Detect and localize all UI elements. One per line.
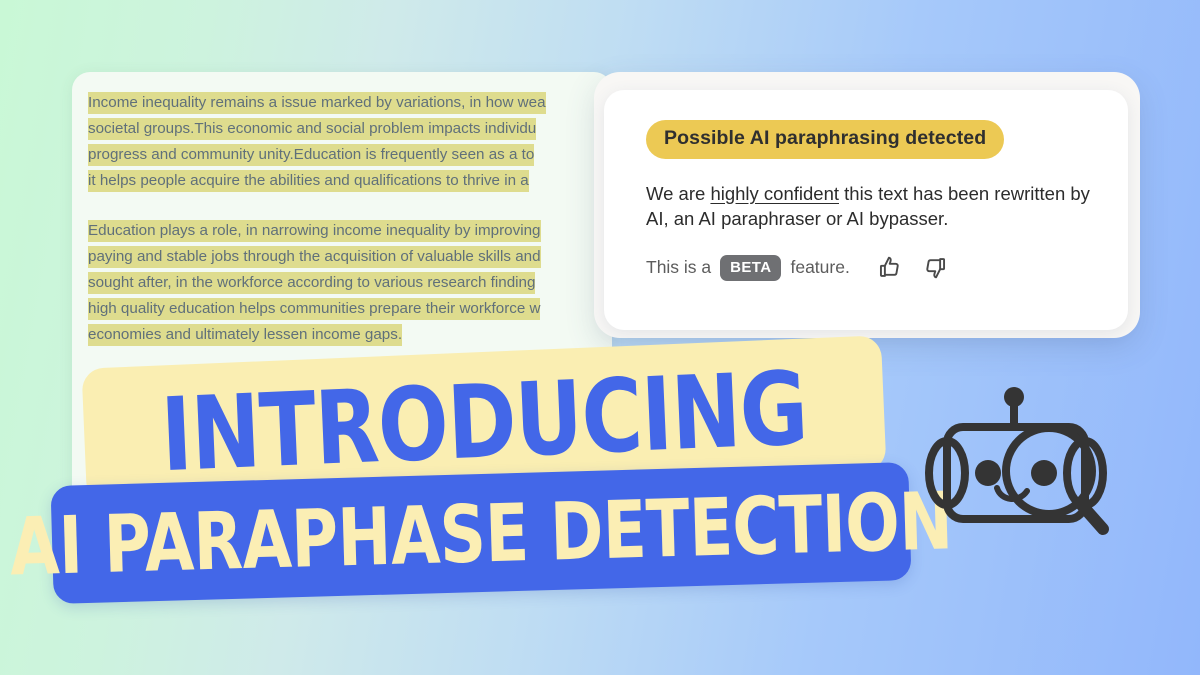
popup-footer: This is a BETA feature.	[646, 253, 1100, 283]
thumbs-down-icon[interactable]	[920, 253, 950, 283]
beta-note-prefix: This is a	[646, 257, 711, 278]
banner-feature-name-text: AI PARAPHASE DETECTION	[9, 478, 954, 587]
paragraph-1: Income inequality remains a issue marked…	[88, 90, 612, 194]
alert-badge: Possible AI paraphrasing detected	[646, 120, 1004, 159]
paragraph-2: Education plays a role, in narrowing inc…	[88, 218, 612, 348]
description-prefix: We are	[646, 183, 710, 204]
beta-badge: BETA	[720, 255, 781, 281]
description-emphasis: highly confident	[710, 183, 839, 204]
beta-note-suffix: feature.	[790, 257, 849, 278]
text-line: Education plays a role, in narrowing inc…	[88, 218, 612, 244]
text-line: it helps people acquire the abilities an…	[88, 168, 612, 194]
robot-magnifier-icon	[925, 383, 1125, 548]
detection-popup-card: Possible AI paraphrasing detected We are…	[604, 90, 1128, 330]
text-line: economies and ultimately lessen income g…	[88, 322, 612, 348]
text-line: high quality education helps communities…	[88, 296, 612, 322]
popup-description: We are highly confident this text has be…	[646, 181, 1100, 231]
paragraph-spacer	[88, 204, 612, 218]
text-line: paying and stable jobs through the acqui…	[88, 244, 612, 270]
text-line: progress and community unity.Education i…	[88, 142, 612, 168]
banner-introducing-text: INTRODUCING	[159, 353, 809, 486]
document-text-body: Income inequality remains a issue marked…	[72, 72, 612, 348]
poster-canvas: Income inequality remains a issue marked…	[0, 0, 1200, 675]
detection-popup-shell: Possible AI paraphrasing detected We are…	[594, 72, 1140, 338]
text-line: societal groups.This economic and social…	[88, 116, 612, 142]
text-line: Income inequality remains a issue marked…	[88, 90, 612, 116]
text-line: sought after, in the workforce according…	[88, 270, 612, 296]
banner-feature-name: AI PARAPHASE DETECTION	[51, 462, 912, 604]
thumbs-up-icon[interactable]	[876, 253, 906, 283]
